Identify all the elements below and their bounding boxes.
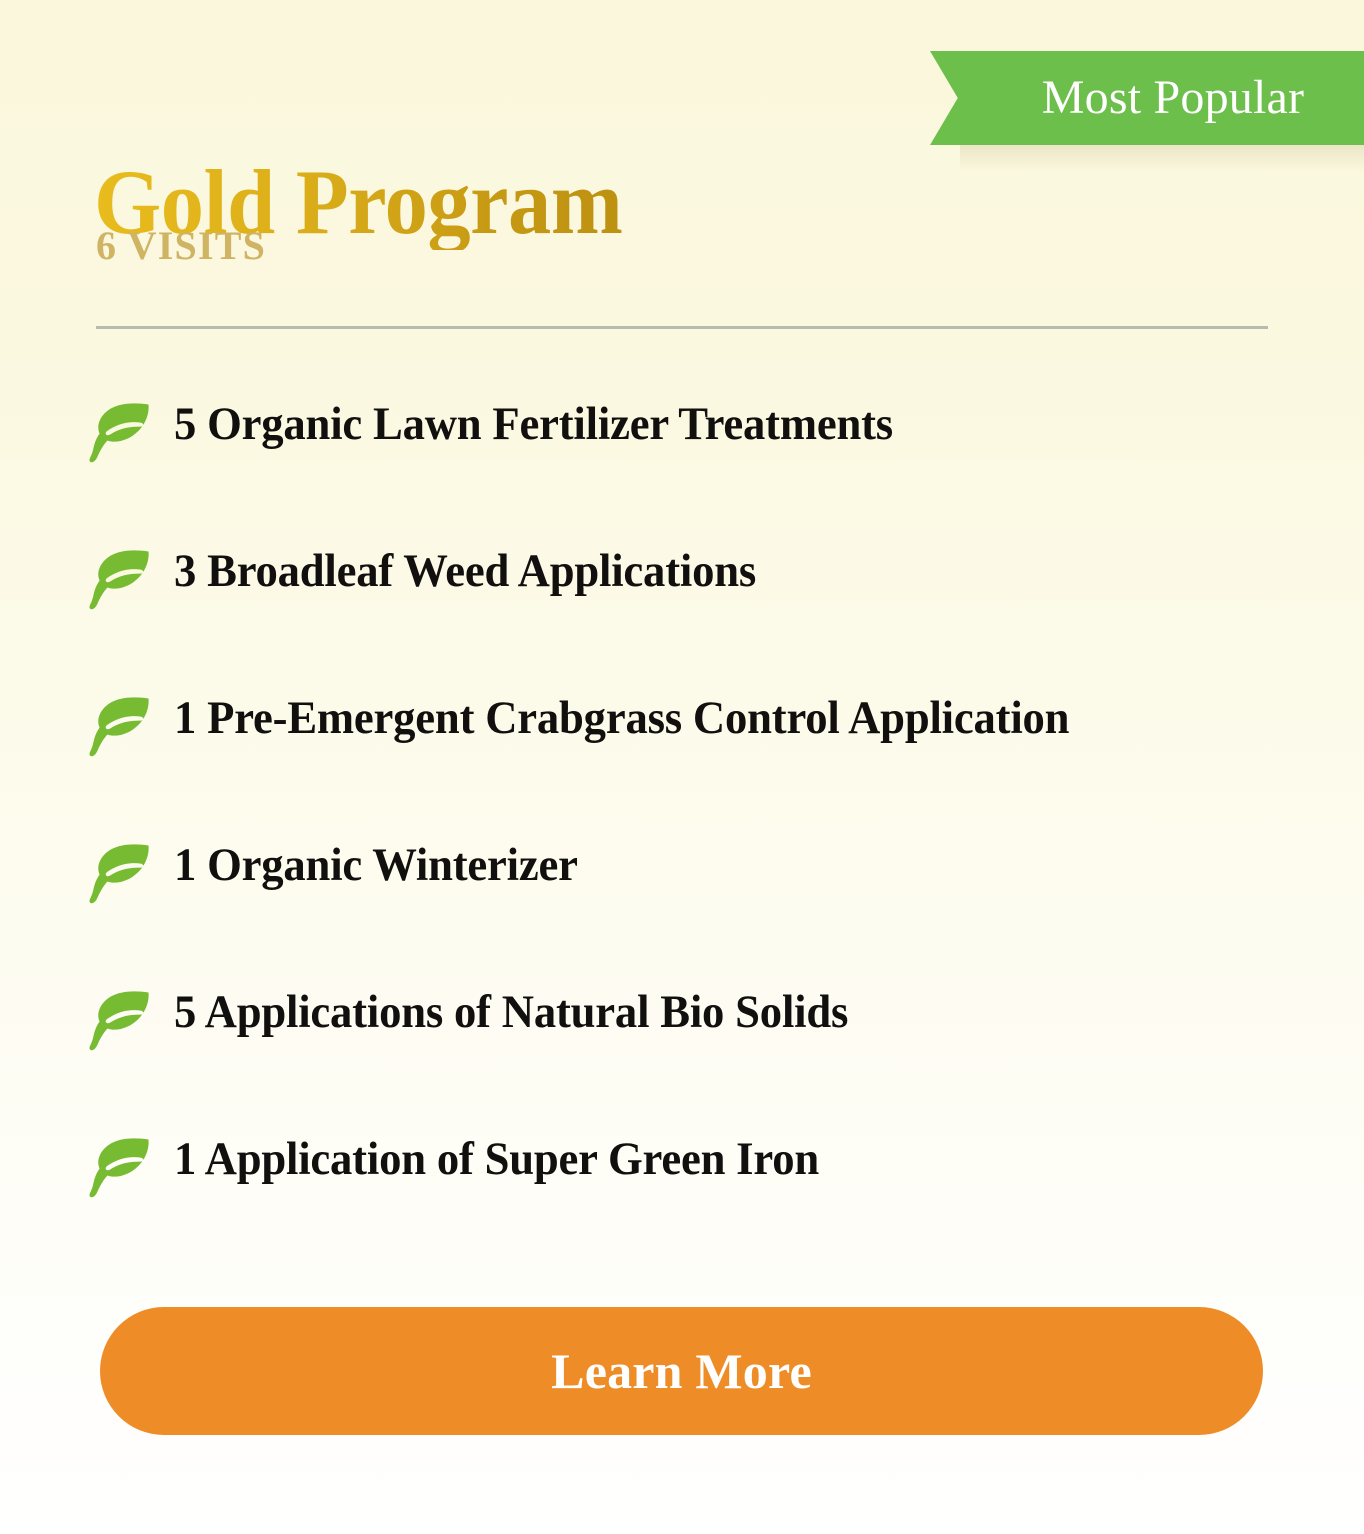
leaf-icon <box>86 1136 154 1198</box>
feature-list: 5 Organic Lawn Fertilizer Treatments 3 B… <box>86 395 1336 1277</box>
leaf-icon <box>86 989 154 1051</box>
leaf-icon <box>86 401 154 463</box>
feature-text: 1 Application of Super Green Iron <box>174 1136 819 1183</box>
leaf-icon <box>86 842 154 904</box>
list-item: 3 Broadleaf Weed Applications <box>86 542 1336 689</box>
pricing-plan-card: Most Popular Gold Program 6 VISITS 5 Org… <box>0 0 1364 1534</box>
learn-more-button[interactable]: Learn More <box>100 1307 1263 1435</box>
feature-text: 5 Applications of Natural Bio Solids <box>174 989 848 1036</box>
list-item: 5 Organic Lawn Fertilizer Treatments <box>86 395 1336 542</box>
most-popular-badge-label: Most Popular <box>990 74 1304 122</box>
plan-visits-subtitle: 6 VISITS <box>96 226 266 266</box>
list-item: 1 Application of Super Green Iron <box>86 1130 1336 1277</box>
feature-text: 5 Organic Lawn Fertilizer Treatments <box>174 401 893 448</box>
feature-text: 1 Organic Winterizer <box>174 842 578 889</box>
leaf-icon <box>86 548 154 610</box>
list-item: 1 Pre-Emergent Crabgrass Control Applica… <box>86 689 1336 836</box>
most-popular-badge: Most Popular <box>930 51 1364 145</box>
list-item: 5 Applications of Natural Bio Solids <box>86 983 1336 1130</box>
header-divider <box>96 326 1268 329</box>
feature-text: 1 Pre-Emergent Crabgrass Control Applica… <box>174 695 1069 742</box>
leaf-icon <box>86 695 154 757</box>
list-item: 1 Organic Winterizer <box>86 836 1336 983</box>
feature-text: 3 Broadleaf Weed Applications <box>174 548 756 595</box>
badge-shadow <box>960 145 1364 171</box>
